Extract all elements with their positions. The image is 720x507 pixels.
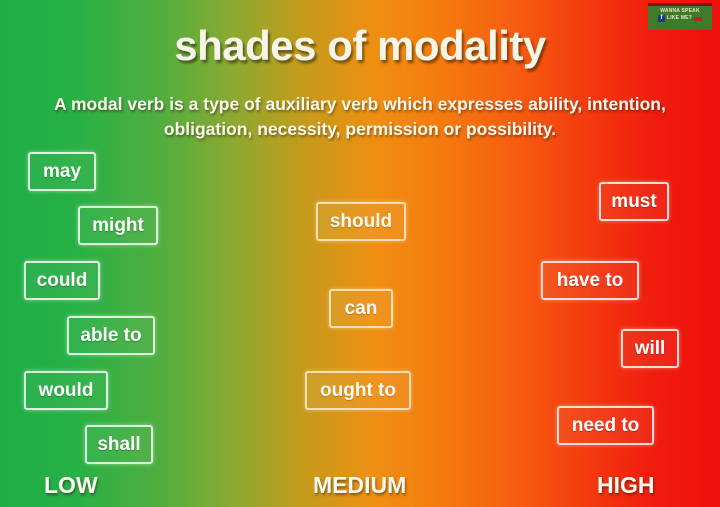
modal-verb-chip: might — [78, 206, 158, 245]
logo-line-2: LIKE ME? — [667, 15, 692, 22]
page-subtitle: A modal verb is a type of auxiliary verb… — [18, 92, 702, 142]
level-label-low: LOW — [44, 472, 98, 499]
level-label-high: HIGH — [597, 472, 655, 499]
modal-verb-chip: should — [316, 202, 406, 241]
modal-verb-chip: could — [24, 261, 100, 300]
modal-verb-chip: shall — [85, 425, 153, 464]
level-label-medium: MEDIUM — [313, 472, 406, 499]
modal-verb-chip: will — [621, 329, 679, 368]
modal-verb-chip: have to — [541, 261, 639, 300]
logo-line-1: WANNA SPEAK — [651, 8, 709, 15]
modal-verb-chip: may — [28, 152, 96, 191]
modal-verb-chip: would — [24, 371, 108, 410]
modal-verb-chip: can — [329, 289, 393, 328]
shades-of-modality-poster: WANNA SPEAK f LIKE ME? shades of modalit… — [0, 0, 720, 507]
logo-line-2-row: f LIKE ME? — [651, 15, 709, 22]
page-title: shades of modality — [0, 22, 720, 70]
modal-verb-chip: must — [599, 182, 669, 221]
modal-verb-chip: need to — [557, 406, 654, 445]
facebook-icon: f — [658, 15, 665, 22]
logo-tag-block — [694, 17, 702, 21]
modal-verb-chip: ought to — [305, 371, 411, 410]
modal-verb-chip: able to — [67, 316, 155, 355]
